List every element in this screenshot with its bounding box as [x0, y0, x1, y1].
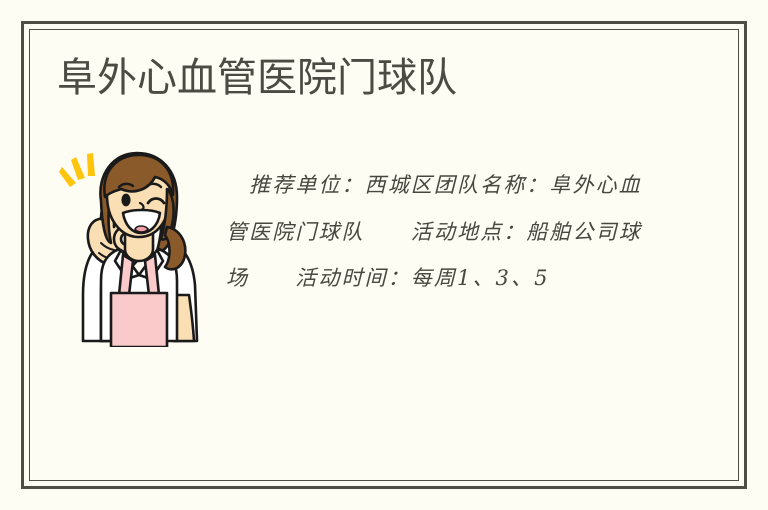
team-details-paragraph: 推荐单位：西城区团队名称：阜外心血管医院门球队 活动地点：船舶公司球场 活动时间… [226, 162, 658, 302]
winking-woman-ok-gesture-icon [57, 145, 209, 347]
article-page: 阜外心血管医院门球队 [0, 0, 768, 510]
page-title: 阜外心血管医院门球队 [57, 55, 457, 101]
content-area: 阜外心血管医院门球队 [30, 30, 738, 480]
